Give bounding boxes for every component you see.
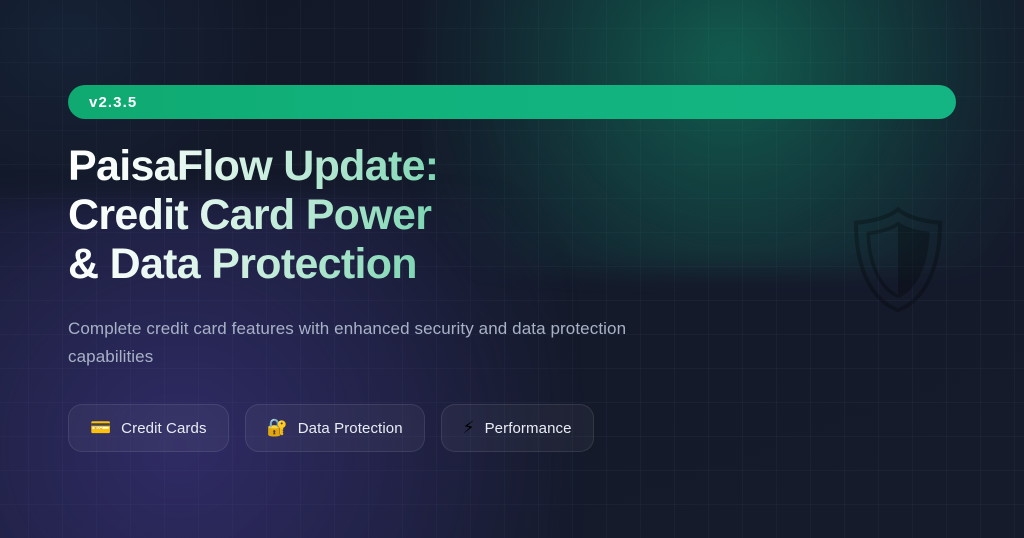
feature-pill-label: Credit Cards <box>121 420 206 437</box>
page-subtitle: Complete credit card features with enhan… <box>68 315 643 371</box>
banner-content: v2.3.5 PaisaFlow Update: Credit Card Pow… <box>68 0 968 538</box>
version-badge-label: v2.3.5 <box>89 94 137 111</box>
headline-line-3: & Data Protection <box>68 240 628 289</box>
lightning-bolt-icon: ⚡ <box>463 420 475 437</box>
release-banner: 🛡 v2.3.5 PaisaFlow Update: Credit Card P… <box>0 0 1024 538</box>
feature-pill-label: Data Protection <box>298 420 403 437</box>
locked-with-key-icon: 🔐 <box>267 420 288 437</box>
feature-pill-data-protection[interactable]: 🔐 Data Protection <box>245 404 425 452</box>
headline-line-2: Credit Card Power <box>68 191 628 240</box>
feature-pill-label: Performance <box>485 420 572 437</box>
feature-pill-list: 💳 Credit Cards 🔐 Data Protection ⚡ Perfo… <box>68 404 594 452</box>
feature-pill-performance[interactable]: ⚡ Performance <box>441 404 594 452</box>
headline-line-1: PaisaFlow Update: <box>68 142 628 191</box>
version-badge: v2.3.5 <box>68 85 956 119</box>
page-title: PaisaFlow Update: Credit Card Power & Da… <box>68 142 628 289</box>
credit-card-icon: 💳 <box>90 420 111 437</box>
feature-pill-credit-cards[interactable]: 💳 Credit Cards <box>68 404 229 452</box>
